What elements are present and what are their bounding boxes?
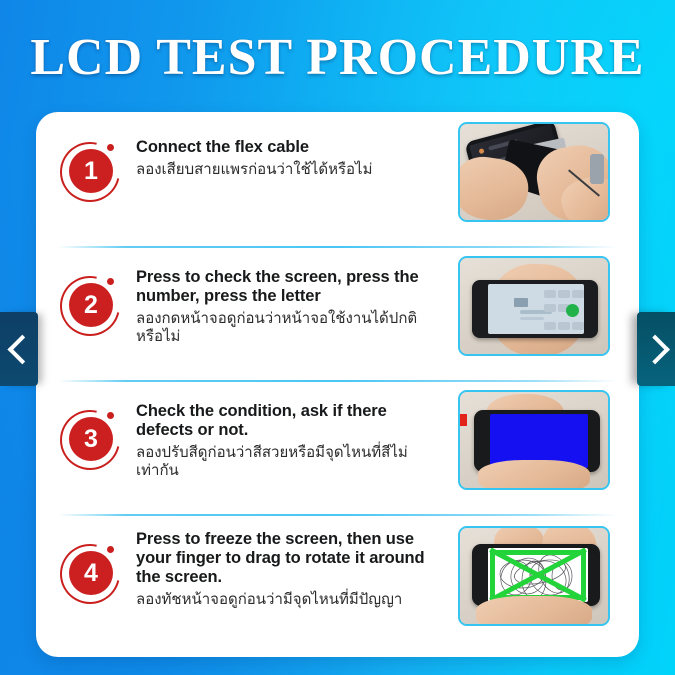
step-badge-4: 4 [60, 544, 122, 606]
step-thumbnail-2[interactable] [458, 256, 610, 356]
call-button-icon [566, 304, 579, 317]
page-title: LCD TEST PROCEDURE [0, 28, 675, 87]
steps-card: 1 Connect the flex cable ลองเสียบสายแพรก… [36, 112, 639, 657]
step-item-2: 2 Press to check the screen, press the n… [36, 246, 639, 380]
step-heading-3: Check the condition, ask if there defect… [136, 402, 426, 440]
red-marker [458, 414, 467, 426]
background-object [590, 154, 604, 184]
phone-body [472, 280, 598, 338]
step-text-1: Connect the flex cable ลองเสียบสายแพรก่อ… [136, 138, 426, 179]
palm-bottom [476, 596, 592, 626]
step-number-2: 2 [69, 283, 113, 327]
step-thumbnail-1[interactable] [458, 122, 610, 222]
chevron-left-icon [7, 334, 37, 364]
badge-dot-icon [107, 278, 114, 285]
step-number-1: 1 [69, 149, 113, 193]
next-slide-button[interactable] [637, 312, 675, 386]
phone-screen-touch [488, 548, 588, 602]
prev-slide-button[interactable] [0, 312, 38, 386]
step-item-3: 3 Check the condition, ask if there defe… [36, 380, 639, 514]
step-heading-2: Press to check the screen, press the num… [136, 268, 426, 306]
phone-screen [488, 284, 584, 334]
step-badge-1: 1 [60, 142, 122, 204]
step-item-1: 1 Connect the flex cable ลองเสียบสายแพรก… [36, 112, 639, 246]
step-subheading-4: ลองทัชหน้าจอดูก่อนว่ามีจุดไหนที่มีปัญญา [136, 591, 426, 609]
badge-dot-icon [107, 144, 114, 151]
palm-bottom [478, 460, 590, 490]
photo-blue-screen [460, 392, 608, 488]
chevron-right-icon [640, 334, 670, 364]
step-text-4: Press to freeze the screen, then use you… [136, 530, 426, 609]
step-text-2: Press to check the screen, press the num… [136, 268, 426, 346]
step-item-4: 4 Press to freeze the screen, then use y… [36, 514, 639, 657]
badge-dot-icon [107, 546, 114, 553]
step-thumbnail-4[interactable] [458, 526, 610, 626]
photo-flex-cable [460, 124, 608, 220]
step-number-4: 4 [69, 551, 113, 595]
step-heading-1: Connect the flex cable [136, 138, 426, 157]
step-subheading-2: ลองกดหน้าจอดูก่อนว่าหน้าจอใช้งานได้ปกติห… [136, 310, 426, 346]
step-badge-2: 2 [60, 276, 122, 338]
photo-dialer-screen [460, 258, 608, 354]
step-heading-4: Press to freeze the screen, then use you… [136, 530, 426, 587]
step-badge-3: 3 [60, 410, 122, 472]
badge-dot-icon [107, 412, 114, 419]
step-subheading-3: ลองปรับสีดูก่อนว่าสีสวยหรือมีจุดไหนที่สี… [136, 444, 426, 480]
photo-touch-test [460, 528, 608, 624]
step-thumbnail-3[interactable] [458, 390, 610, 490]
step-number-3: 3 [69, 417, 113, 461]
step-subheading-1: ลองเสียบสายแพรก่อนว่าใช้ได้หรือไม่ [136, 161, 426, 179]
step-text-3: Check the condition, ask if there defect… [136, 402, 426, 480]
